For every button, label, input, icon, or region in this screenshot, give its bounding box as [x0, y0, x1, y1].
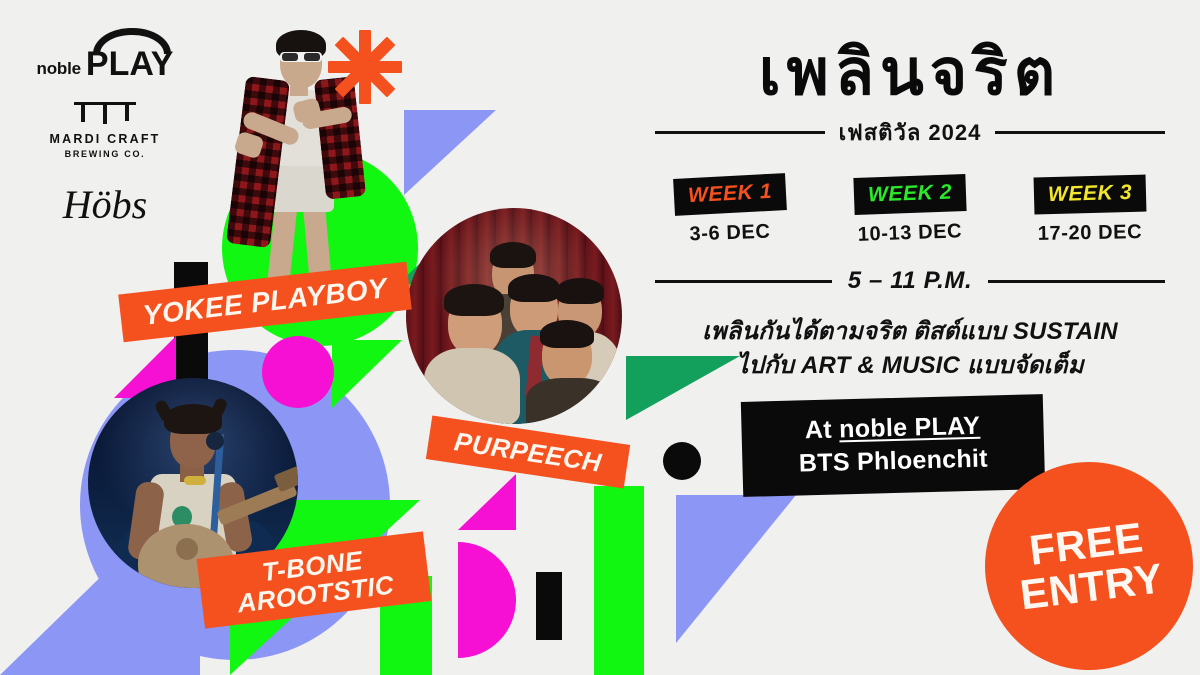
week-badge-1: WEEK 1: [673, 173, 787, 216]
event-poster: YOKEE PLAYBOY PURPEECH T-BONE AROOTSTIC …: [0, 0, 1200, 675]
event-time: 5 – 11 P.M.: [848, 267, 972, 295]
noble-play-word-play: PLAY: [86, 50, 174, 80]
venue-name: noble PLAY: [839, 412, 981, 444]
venue-prefix: At: [805, 415, 840, 444]
subtitle-row: เฟสติวัล 2024: [655, 115, 1165, 150]
venue-block: At noble PLAY BTS Phloenchit: [741, 394, 1045, 497]
purple-triangle-top: [404, 110, 496, 195]
subtitle: เฟสติวัล 2024: [839, 115, 982, 150]
week-item-2: WEEK 2 10-13 DEC: [835, 176, 985, 245]
venue-line-2: BTS Phloenchit: [760, 441, 1027, 480]
logo-noble-play: noble PLAY: [0, 28, 210, 80]
description-line-1: เพลินกันได้ตามจริต ติสต์แบบ SUSTAIN: [655, 315, 1165, 349]
artist-banner-purpeech: PURPEECH: [426, 415, 630, 488]
magenta-half-circle: [458, 542, 516, 658]
week-badge-2: WEEK 2: [853, 174, 966, 215]
time-row: 5 – 11 P.M.: [655, 267, 1165, 295]
week-dates-3: 17-20 DEC: [1015, 221, 1165, 247]
purple-triangle-bottom-right: [676, 495, 796, 643]
description-line-2: ไปกับ ART & MUSIC แบบจัดเต็ม: [655, 349, 1165, 383]
event-info-panel: เพลินจริต เฟสติวัล 2024 WEEK 1 3-6 DEC W…: [655, 40, 1165, 383]
artist-photo-purpeech: [406, 208, 622, 424]
mardi-craft-drip-icon: [74, 102, 136, 124]
logo-mardi-craft: MARDI CRAFT BREWING CO.: [0, 102, 210, 159]
page-title: เพลินจริต: [655, 40, 1165, 105]
black-circle-right: [663, 442, 701, 480]
green-bar-bottom-center: [594, 486, 644, 675]
logo-hobs: Höbs: [0, 181, 210, 228]
magenta-triangle-center: [458, 474, 516, 530]
time-rule-right: [988, 280, 1165, 283]
noble-play-word-noble: noble: [37, 60, 81, 80]
week-dates-1: 3-6 DEC: [655, 220, 806, 248]
black-rect-bottom-center: [536, 572, 562, 640]
rule-left: [655, 131, 825, 134]
week-schedule: WEEK 1 3-6 DEC WEEK 2 10-13 DEC WEEK 3 1…: [655, 176, 1165, 245]
mardi-craft-subtitle: BREWING CO.: [0, 149, 210, 159]
mardi-craft-name: MARDI CRAFT: [0, 132, 210, 146]
week-badge-3: WEEK 3: [1033, 175, 1146, 215]
time-rule-left: [655, 280, 832, 283]
hobs-name: Höbs: [0, 181, 210, 228]
rule-right: [995, 131, 1165, 134]
week-dates-2: 10-13 DEC: [835, 220, 986, 248]
week-item-3: WEEK 3 17-20 DEC: [1015, 176, 1165, 245]
magenta-circle-small: [262, 336, 334, 408]
week-item-1: WEEK 1 3-6 DEC: [655, 176, 805, 245]
brand-logo-stack: noble PLAY MARDI CRAFT BREWING CO. Höbs: [0, 28, 210, 250]
asterisk-icon: [328, 30, 402, 104]
green-triangle-mid-left: [332, 340, 402, 408]
event-description: เพลินกันได้ตามจริต ติสต์แบบ SUSTAIN ไปกั…: [655, 315, 1165, 383]
noble-play-arc-icon: [93, 28, 171, 54]
